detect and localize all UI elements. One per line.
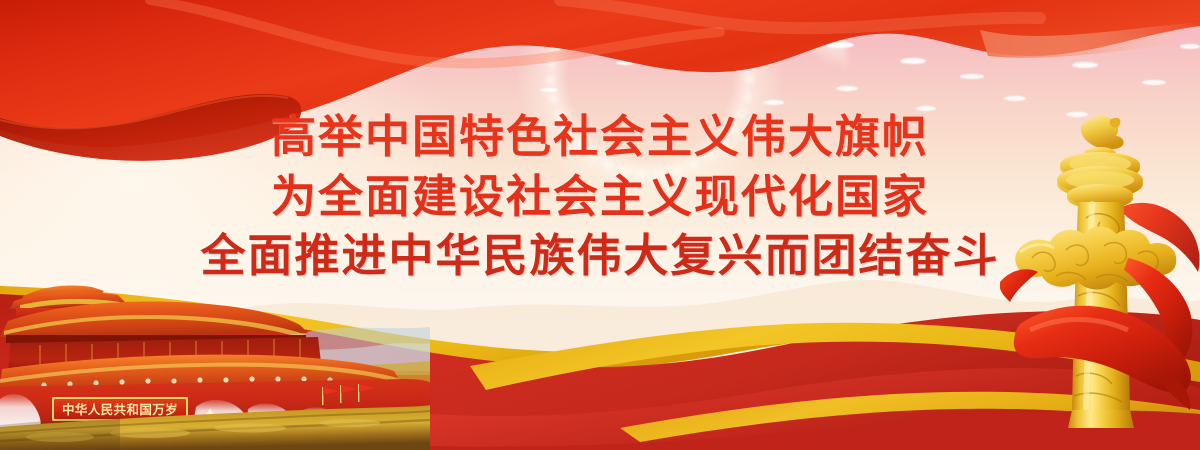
headline-line-1: 高举中国特色社会主义伟大旗帜	[0, 112, 1200, 162]
headline-line-2: 为全面建设社会主义现代化国家	[0, 172, 1200, 222]
poster-banner: 中华人民共和国万岁	[0, 0, 1200, 450]
headline-block: 高举中国特色社会主义伟大旗帜 为全面建设社会主义现代化国家 全面推进中华民族伟大…	[0, 112, 1200, 281]
tiananmen-gate-scene: 中华人民共和国万岁	[0, 275, 430, 450]
gate-slogan-text: 中华人民共和国万岁	[62, 402, 178, 417]
headline-line-3: 全面推进中华民族伟大复兴而团结奋斗	[0, 231, 1200, 281]
